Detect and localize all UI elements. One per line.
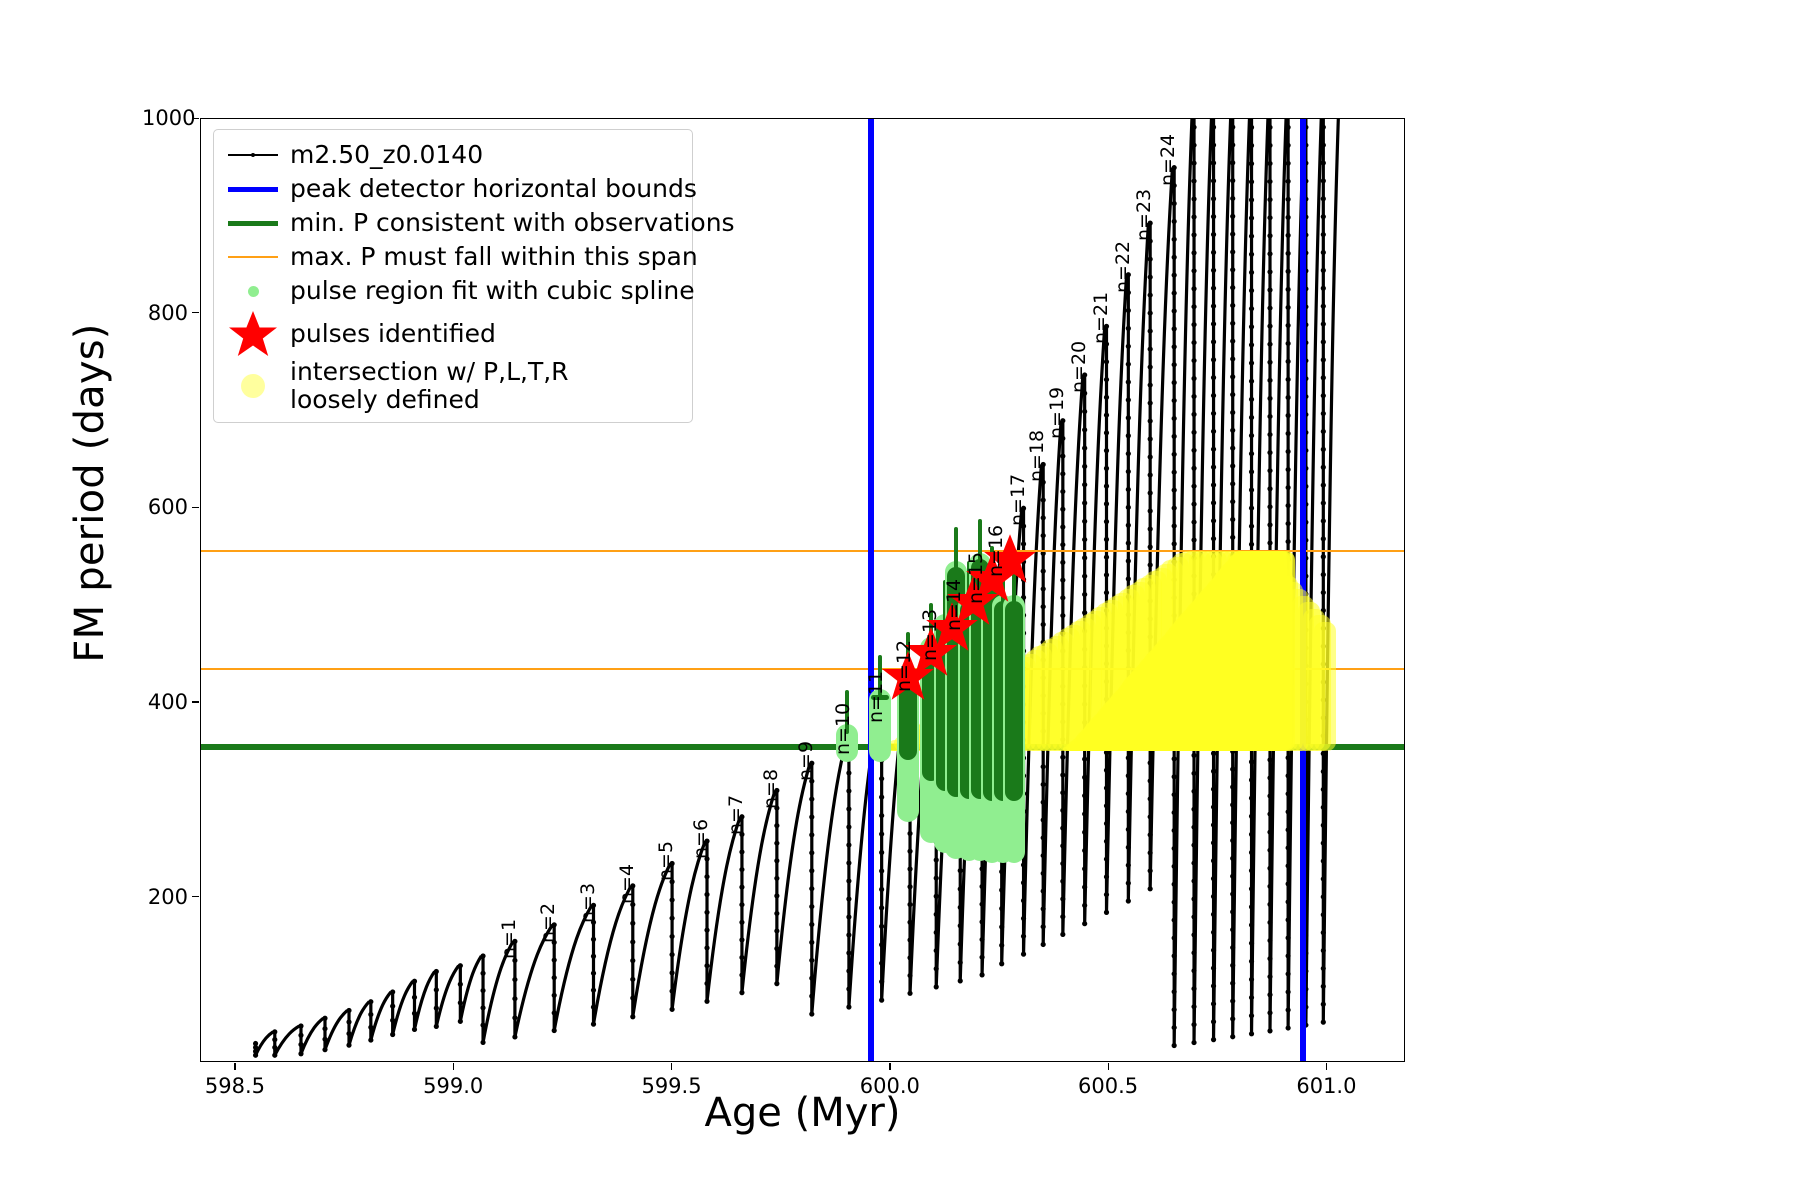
x-tick-mark <box>453 1063 454 1070</box>
pulse-number-label: n=16 <box>985 525 1007 577</box>
pulse-region-marker <box>1005 601 1023 801</box>
legend-entry-pulses[interactable]: pulses identified <box>224 308 682 360</box>
legend-key-orange-line-icon <box>224 240 282 274</box>
figure-canvas: FM period (days) Age (Myr) 2004006008001… <box>0 0 1800 1200</box>
plot-area: n=1n=2n=3n=4n=5n=6n=7n=8n=9n=10n=11n=12n… <box>200 118 1405 1062</box>
pulse-region-stem <box>954 527 958 571</box>
pulse-number-label: n=4 <box>616 864 638 904</box>
y-tick-label: 600 <box>142 495 188 519</box>
legend-label: min. P consistent with observations <box>282 210 735 236</box>
y-tick-mark <box>192 896 199 897</box>
legend-key-line-icon <box>224 138 282 172</box>
legend-entry-spline-fit[interactable]: pulse region fit with cubic spline <box>224 274 682 308</box>
x-tick-mark <box>1108 1063 1109 1070</box>
y-tick-label: 1000 <box>142 106 188 130</box>
pulse-number-label: n=10 <box>832 703 854 755</box>
legend-entry-intersection[interactable]: intersection w/ P,L,T,R loosely defined <box>224 360 682 412</box>
y-tick-mark <box>192 507 199 508</box>
y-tick-label: 400 <box>142 690 188 714</box>
y-tick-mark <box>192 118 199 119</box>
legend-key-blue-line-icon <box>224 172 282 206</box>
pulse-number-label: n=9 <box>795 741 817 781</box>
pulse-number-label: n=2 <box>537 903 559 943</box>
pulse-number-label: n=20 <box>1068 341 1090 393</box>
x-tick-label: 600.5 <box>1078 1074 1138 1098</box>
legend-label: peak detector horizontal bounds <box>282 176 697 202</box>
y-tick-mark <box>192 701 199 702</box>
x-tick-label: 599.5 <box>641 1074 701 1098</box>
pulse-number-label: n=23 <box>1133 189 1155 241</box>
y-tick-label: 800 <box>142 301 188 325</box>
legend-label: pulses identified <box>282 321 496 347</box>
pulse-number-label: n=1 <box>498 919 520 959</box>
pulse-number-label: n=7 <box>725 795 747 835</box>
x-tick-mark <box>1326 1063 1327 1070</box>
pulse-number-label: n=8 <box>760 768 782 808</box>
legend-key-green-line-icon <box>224 206 282 240</box>
legend-label: pulse region fit with cubic spline <box>282 278 695 304</box>
legend-label: intersection w/ P,L,T,R loosely defined <box>282 358 569 414</box>
legend-key-green-dot-icon <box>224 274 282 308</box>
intersection-marker-column <box>1273 551 1295 751</box>
pulse-number-label: n=21 <box>1090 292 1112 344</box>
pulse-number-label: n=15 <box>965 552 987 604</box>
legend: m2.50_z0.0140 peak detector horizontal b… <box>213 129 693 423</box>
x-tick-mark <box>234 1063 235 1070</box>
pulse-number-label: n=6 <box>690 819 712 859</box>
x-tick-label: 598.5 <box>205 1074 265 1098</box>
legend-label-line2: loosely defined <box>290 386 569 414</box>
legend-label: max. P must fall within this span <box>282 244 698 270</box>
pulse-number-label: n=13 <box>919 608 941 660</box>
legend-key-yellow-dot-icon <box>224 369 282 403</box>
x-tick-label: 599.0 <box>423 1074 483 1098</box>
x-tick-label: 600.0 <box>860 1074 920 1098</box>
pulse-number-label: n=11 <box>865 671 887 723</box>
legend-entry-peak-detector[interactable]: peak detector horizontal bounds <box>224 172 682 206</box>
x-tick-label: 601.0 <box>1296 1074 1356 1098</box>
y-tick-mark <box>192 312 199 313</box>
legend-entry-max-period-span[interactable]: max. P must fall within this span <box>224 240 682 274</box>
y-axis-label: FM period (days) <box>67 143 113 843</box>
pulse-number-label: n=22 <box>1112 241 1134 293</box>
legend-key-star-icon <box>224 317 282 351</box>
pulse-number-label: n=12 <box>893 640 915 692</box>
pulse-number-label: n=19 <box>1046 387 1068 439</box>
pulse-number-label: n=5 <box>655 841 677 881</box>
x-tick-mark <box>889 1063 890 1070</box>
y-tick-label: 200 <box>142 885 188 909</box>
pulse-number-label: n=24 <box>1157 134 1179 186</box>
legend-entry-min-period[interactable]: min. P consistent with observations <box>224 206 682 240</box>
legend-entry-curve[interactable]: m2.50_z0.0140 <box>224 138 682 172</box>
pulse-number-label: n=3 <box>577 883 599 923</box>
x-axis-label: Age (Myr) <box>200 1090 1405 1136</box>
pulse-number-label: n=14 <box>943 579 965 631</box>
legend-label-line1: intersection w/ P,L,T,R <box>290 358 569 386</box>
x-tick-mark <box>671 1063 672 1070</box>
peak-detector-bound-line <box>868 119 874 1061</box>
intersection-marker-column <box>1314 622 1336 751</box>
legend-label: m2.50_z0.0140 <box>282 142 483 168</box>
